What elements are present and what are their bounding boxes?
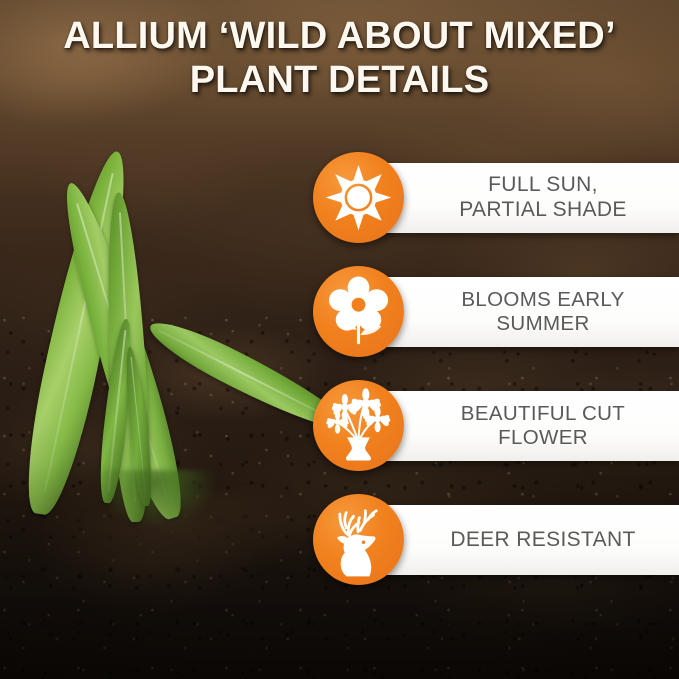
feature-label: BEAUTIFUL CUT FLOWER [375, 402, 679, 450]
feature-bar: DEER RESISTANT [375, 505, 679, 575]
sun-icon [313, 152, 404, 243]
vase-bouquet-icon [313, 380, 404, 471]
plant-details-list: FULL SUN, PARTIAL SHADE [0, 0, 679, 679]
feature-bar: BEAUTIFUL CUT FLOWER [375, 391, 679, 461]
feature-label: BLOOMS EARLY SUMMER [375, 288, 679, 336]
feature-row: BLOOMS EARLY SUMMER [313, 266, 679, 358]
flower-icon [313, 266, 404, 357]
feature-label: DEER RESISTANT [404, 528, 649, 553]
feature-row: FULL SUN, PARTIAL SHADE [313, 152, 679, 244]
feature-row: DEER RESISTANT [313, 494, 679, 586]
feature-label: FULL SUN, PARTIAL SHADE [413, 173, 641, 223]
feature-bar: BLOOMS EARLY SUMMER [375, 277, 679, 347]
product-infographic: ALLIUM ‘WILD ABOUT MIXED’ PLANT DETAILS … [0, 0, 679, 679]
feature-row: BEAUTIFUL CUT FLOWER [313, 380, 679, 472]
deer-head-icon [313, 494, 404, 585]
feature-bar: FULL SUN, PARTIAL SHADE [375, 163, 679, 233]
